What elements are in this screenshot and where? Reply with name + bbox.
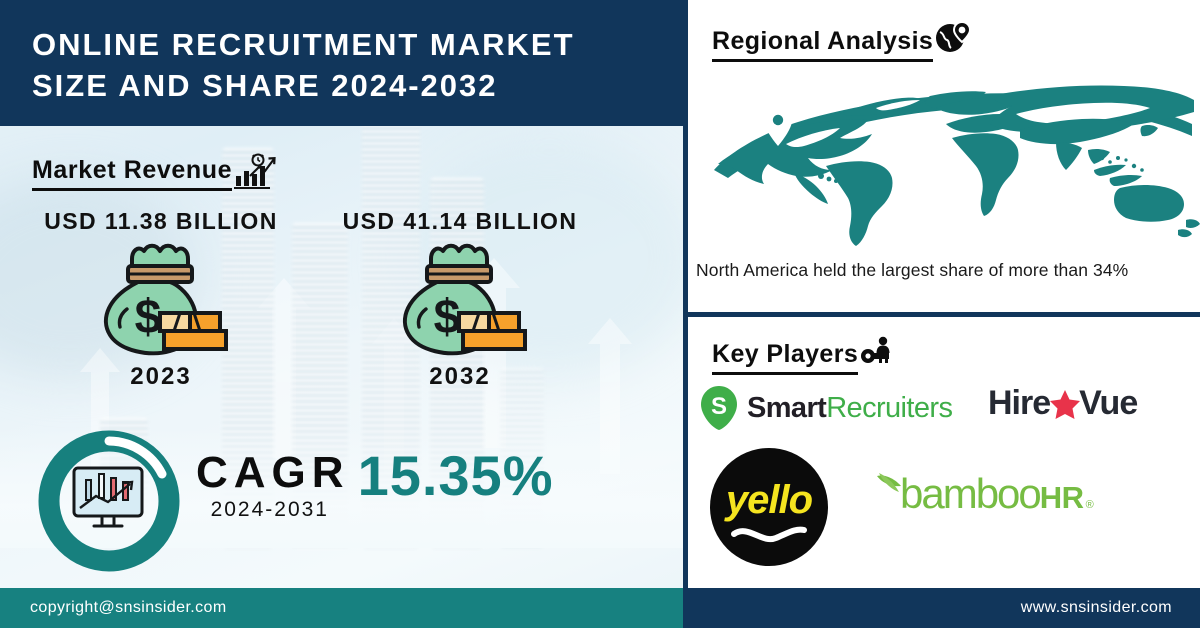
bamboohr-registered-mark: ® bbox=[1086, 499, 1092, 511]
infographic-canvas: ONLINE RECRUITMENT MARKET SIZE AND SHARE… bbox=[0, 0, 1200, 628]
cagr-range: 2024-2031 bbox=[196, 498, 350, 522]
hirevue-word-1: Hire bbox=[988, 384, 1050, 423]
smartrecruiters-word-1: Smart bbox=[747, 392, 826, 424]
logo-yello: yello bbox=[710, 448, 828, 566]
regional-analysis-caption: North America held the largest share of … bbox=[696, 258, 1196, 283]
bamboohr-wordmark: bambooHR® bbox=[900, 470, 1092, 518]
hirevue-word-2: Vue bbox=[1079, 384, 1137, 423]
bamboohr-word-2: HR bbox=[1040, 480, 1084, 516]
revenue-entry-2023: USD 11.38 BILLION $ 2023 bbox=[16, 208, 306, 391]
horizontal-divider bbox=[683, 312, 1200, 317]
svg-text:$: $ bbox=[135, 291, 162, 344]
logo-smartrecruiters: S SmartRecruiters bbox=[698, 384, 952, 432]
money-bag-icon: $ bbox=[86, 241, 236, 367]
yello-circle: yello bbox=[710, 448, 828, 566]
market-revenue-heading: Market Revenue bbox=[32, 152, 278, 191]
bamboohr-word-1: bamboo bbox=[900, 470, 1040, 518]
cagr-value: 15.35% bbox=[358, 448, 554, 504]
yello-wordmark: yello bbox=[710, 478, 828, 523]
smartrecruiters-word-2: Recruiters bbox=[826, 392, 952, 424]
bar-chart-growth-icon bbox=[232, 152, 278, 190]
key-players-heading: Key Players bbox=[712, 334, 894, 375]
revenue-entry-2032: USD 41.14 BILLION $ 2032 bbox=[315, 208, 605, 391]
smartrecruiters-wordmark: SmartRecruiters bbox=[747, 392, 952, 425]
page-title: ONLINE RECRUITMENT MARKET SIZE AND SHARE… bbox=[32, 24, 652, 106]
hirevue-wordmark: Hire Vue bbox=[988, 384, 1137, 423]
money-bag-icon: $ bbox=[385, 241, 535, 367]
revenue-amount: USD 11.38 BILLION bbox=[16, 208, 306, 235]
footer-right: www.snsinsider.com bbox=[688, 588, 1200, 628]
svg-text:S: S bbox=[711, 393, 727, 420]
key-players-label: Key Players bbox=[712, 340, 858, 375]
cagr-label: CAGR bbox=[196, 450, 350, 496]
key-person-icon bbox=[860, 334, 894, 373]
revenue-amount: USD 41.14 BILLION bbox=[315, 208, 605, 235]
svg-text:$: $ bbox=[434, 291, 461, 344]
logo-bamboohr: bambooHR® bbox=[874, 470, 1092, 518]
star-icon bbox=[1048, 387, 1082, 421]
market-revenue-label: Market Revenue bbox=[32, 156, 232, 191]
yello-swoosh-icon bbox=[710, 522, 828, 552]
stock-monitor-icon bbox=[36, 428, 182, 574]
logo-hirevue: Hire Vue bbox=[988, 384, 1137, 423]
revenue-year: 2023 bbox=[16, 363, 306, 391]
left-panel: ONLINE RECRUITMENT MARKET SIZE AND SHARE… bbox=[0, 0, 683, 628]
footer-website-text: www.snsinsider.com bbox=[1021, 599, 1172, 617]
cagr-block: CAGR 2024-2031 15.35% bbox=[196, 450, 554, 522]
revenue-year: 2032 bbox=[315, 363, 605, 391]
key-players-logos: S SmartRecruiters Hire Vue yello bbox=[690, 378, 1200, 578]
smartrecruiters-mark-icon: S bbox=[698, 384, 740, 432]
title-bar: ONLINE RECRUITMENT MARKET SIZE AND SHARE… bbox=[0, 0, 683, 126]
footer-copyright-text: copyright@snsinsider.com bbox=[30, 599, 227, 617]
footer-left: copyright@snsinsider.com bbox=[0, 588, 683, 628]
world-map bbox=[690, 52, 1200, 252]
